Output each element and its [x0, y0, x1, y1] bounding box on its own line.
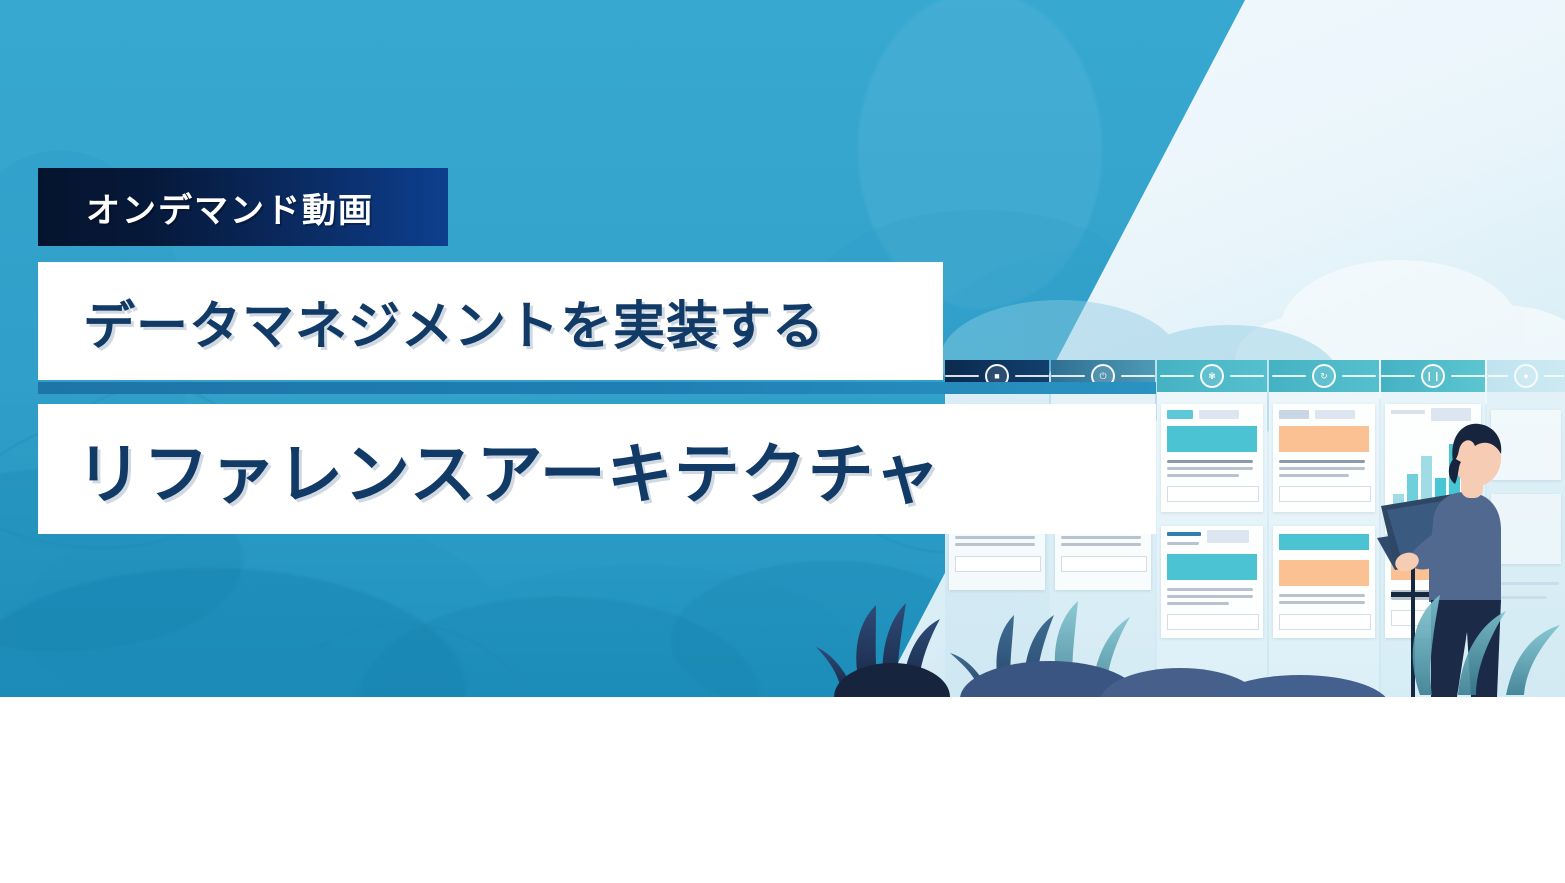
user-icon: ● — [1514, 364, 1538, 388]
board-column-header: ✾ — [1157, 360, 1267, 392]
card-text-line — [1167, 467, 1253, 470]
card-text-line — [1061, 536, 1141, 539]
card-text-line — [1167, 542, 1199, 545]
title-line-2: リファレンスアーキテクチャ — [76, 421, 941, 517]
card-text-line — [1167, 460, 1253, 463]
pause-icon: ❙❙ — [1421, 364, 1445, 388]
on-demand-video-badge: オンデマンド動画 — [38, 168, 448, 246]
card-text-line — [1061, 543, 1141, 546]
gear-icon: ✾ — [1200, 364, 1224, 388]
title-accent-band — [38, 382, 1156, 394]
hero-banner: ■ ⏻ ✾ ↻ ❙❙ — [0, 0, 1565, 697]
card-tag — [1279, 410, 1309, 419]
slide-root: ■ ⏻ ✾ ↻ ❙❙ — [0, 0, 1565, 883]
card-tag — [1207, 530, 1249, 543]
badge-label: オンデマンド動画 — [86, 183, 374, 232]
title-line-1-box: データマネジメントを実装する — [38, 262, 943, 380]
refresh-icon: ↻ — [1312, 364, 1336, 388]
footer: 超 サ ポ 愉 快 カ ン パ ニ ー アシスト 株式会社アシスト — [0, 697, 1565, 883]
card-banner — [1167, 426, 1257, 452]
card-tag — [1167, 532, 1201, 536]
foreground-foliage — [0, 557, 1565, 697]
card-tag — [1199, 410, 1239, 419]
board-card — [1161, 404, 1263, 512]
card-text-line — [955, 543, 1035, 546]
board-column-header: ❙❙ — [1381, 360, 1485, 392]
card-tag — [1167, 410, 1193, 419]
board-column-header: ● — [1487, 360, 1565, 392]
board-column-header: ↻ — [1269, 360, 1379, 392]
card-text-line — [1167, 474, 1239, 477]
card-input-box — [1167, 486, 1259, 502]
title-line-1: データマネジメントを実装する — [83, 284, 825, 359]
title-line-2-box: リファレンスアーキテクチャ — [38, 404, 1156, 534]
card-text-line — [955, 536, 1035, 539]
